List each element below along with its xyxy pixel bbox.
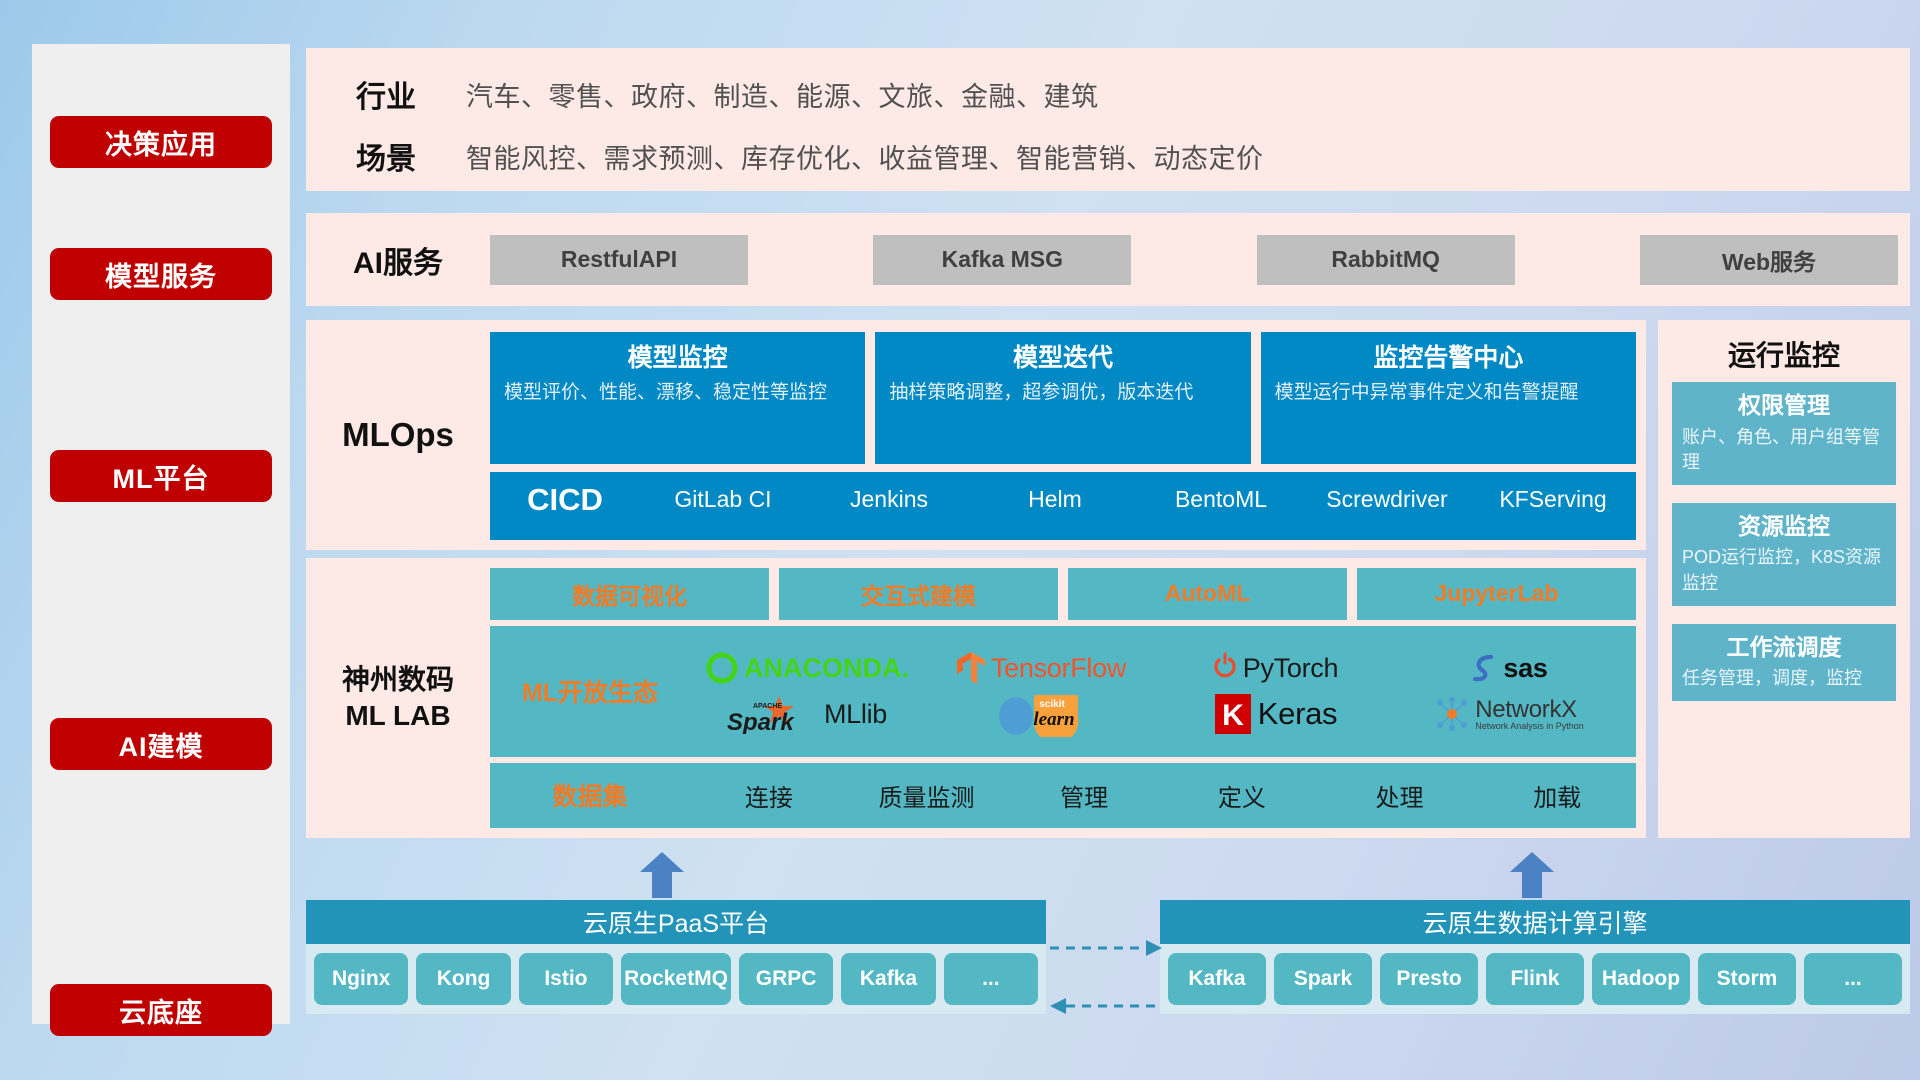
cloud-chip-grpc[interactable]: GRPC: [739, 953, 833, 1005]
cloud-chip-rocketmq[interactable]: RocketMQ: [621, 953, 731, 1005]
ai-service-chip-list: RestfulAPI Kafka MSG RabbitMQ Web服务: [490, 235, 1910, 285]
cicd-item-gitlab-ci[interactable]: GitLab CI: [640, 484, 806, 511]
mlops-label: MLOps: [306, 320, 490, 550]
industry-scenario-band: 行业 汽车、零售、政府、制造、能源、文旅、金融、建筑 场景 智能风控、需求预测、…: [306, 48, 1910, 191]
networkx-logo-text: NetworkX: [1475, 698, 1584, 722]
industry-label: 行业: [306, 72, 466, 116]
ml-open-ecosystem-title: ML开放生态: [490, 673, 690, 709]
up-arrow-engine-icon: [1510, 852, 1554, 898]
ml-lab-tab-interactive-modeling[interactable]: 交互式建模: [779, 568, 1058, 620]
cloud-chip-kong[interactable]: Kong: [416, 953, 510, 1005]
tensorflow-logo: TensorFlow: [956, 651, 1126, 685]
engine-chip-presto[interactable]: Presto: [1380, 953, 1478, 1005]
card-desc: 账户、角色、用户组等管理: [1682, 425, 1886, 475]
scenario-label: 场景: [306, 134, 466, 178]
cloud-engine-header: 云原生数据计算引擎: [1160, 900, 1910, 944]
mlops-content: 模型监控 模型评价、性能、漂移、稳定性等监控 模型迭代 抽样策略调整，超参调优，…: [490, 320, 1646, 550]
scenario-value: 智能风控、需求预测、库存优化、收益管理、智能营销、动态定价: [466, 137, 1264, 176]
ai-service-label: AI服务: [306, 238, 490, 282]
monitor-card-workflow-scheduling[interactable]: 工作流调度 任务管理，调度，监控: [1672, 624, 1896, 702]
layer-chip-cloud-base[interactable]: 云底座: [50, 984, 272, 1036]
engine-chip-more[interactable]: ...: [1804, 953, 1902, 1005]
ml-open-ecosystem-panel: ML开放生态 ANACONDA.: [490, 626, 1636, 757]
mlops-card-model-monitoring[interactable]: 模型监控 模型评价、性能、漂移、稳定性等监控: [490, 332, 865, 464]
cloud-chip-more[interactable]: ...: [944, 953, 1038, 1005]
card-desc: 模型运行中异常事件定义和告警提醒: [1275, 380, 1622, 407]
cloud-paas-header: 云原生PaaS平台: [306, 900, 1046, 944]
mlops-card-alert-center[interactable]: 监控告警中心 模型运行中异常事件定义和告警提醒: [1261, 332, 1636, 464]
ml-lab-tab-list: 数据可视化 交互式建模 AutoML JupyterLab: [490, 568, 1636, 620]
dataset-item-list: 连接 质量监测 管理 定义 处理 加载: [690, 778, 1636, 813]
ml-lab-band: 神州数码 ML LAB 数据可视化 交互式建模 AutoML JupyterLa…: [306, 558, 1646, 838]
ml-lab-content: 数据可视化 交互式建模 AutoML JupyterLab ML开放生态 ANA…: [490, 558, 1646, 838]
card-title: 权限管理: [1682, 388, 1886, 423]
svg-text:learn: learn: [1033, 709, 1074, 730]
engine-chip-flink[interactable]: Flink: [1486, 953, 1584, 1005]
dataset-item-manage[interactable]: 管理: [1005, 778, 1163, 813]
up-arrow-paas-icon: [640, 852, 684, 898]
cicd-item-bentoml[interactable]: BentoML: [1138, 484, 1304, 511]
dataset-item-load[interactable]: 加载: [1478, 778, 1636, 813]
card-title: 监控告警中心: [1275, 340, 1622, 376]
dataset-item-connect[interactable]: 连接: [690, 778, 848, 813]
engine-chip-spark[interactable]: Spark: [1274, 953, 1372, 1005]
card-title: 工作流调度: [1682, 630, 1886, 665]
networkx-logo: NetworkX Network Analysis in Python: [1434, 696, 1584, 732]
industry-value: 汽车、零售、政府、制造、能源、文旅、金融、建筑: [466, 75, 1099, 114]
pytorch-logo: PyTorch: [1212, 652, 1338, 684]
spark-mllib-logo: APACHE Spark MLlib: [727, 694, 887, 734]
industry-row: 行业 汽车、零售、政府、制造、能源、文旅、金融、建筑: [306, 66, 1910, 122]
scikit-learn-logo: scikit learn: [994, 691, 1088, 737]
keras-logo-text: Keras: [1258, 696, 1337, 732]
layer-chip-model-service[interactable]: 模型服务: [50, 248, 272, 300]
cloud-chip-kafka[interactable]: Kafka: [841, 953, 935, 1005]
mlops-band: MLOps 模型监控 模型评价、性能、漂移、稳定性等监控 模型迭代 抽样策略调整…: [306, 320, 1646, 550]
dataset-item-process[interactable]: 处理: [1321, 778, 1479, 813]
card-title: 资源监控: [1682, 509, 1886, 544]
ai-service-chip-kafka-msg[interactable]: Kafka MSG: [873, 235, 1131, 285]
bidirectional-connector: [1048, 930, 1164, 1030]
keras-logo: K Keras: [1213, 693, 1337, 735]
dataset-item-quality-monitoring[interactable]: 质量监测: [848, 778, 1006, 813]
monitor-card-resource-monitoring[interactable]: 资源监控 POD运行监控，K8S资源监控: [1672, 503, 1896, 606]
cicd-item-kfserving[interactable]: KFServing: [1470, 484, 1636, 511]
dataset-panel: 数据集 连接 质量监测 管理 定义 处理 加载: [490, 763, 1636, 828]
cloud-chip-nginx[interactable]: Nginx: [314, 953, 408, 1005]
card-title: 模型迭代: [889, 340, 1236, 376]
cicd-bar: CICD GitLab CI Jenkins Helm BentoML Scre…: [490, 472, 1636, 540]
svg-text:K: K: [1222, 699, 1244, 732]
cloud-engine-chip-list: Kafka Spark Presto Flink Hadoop Storm ..…: [1160, 944, 1910, 1014]
runtime-monitoring-title: 运行监控: [1658, 320, 1910, 382]
cloud-chip-istio[interactable]: Istio: [519, 953, 613, 1005]
anaconda-logo: ANACONDA.: [705, 651, 909, 685]
ai-service-chip-web-service[interactable]: Web服务: [1640, 235, 1898, 285]
pytorch-logo-text: PyTorch: [1243, 653, 1338, 684]
svg-text:Spark: Spark: [727, 709, 795, 734]
sas-logo-text: sas: [1503, 653, 1547, 684]
card-desc: 任务管理，调度，监控: [1682, 666, 1886, 691]
engine-chip-hadoop[interactable]: Hadoop: [1592, 953, 1690, 1005]
cicd-item-helm[interactable]: Helm: [972, 484, 1138, 511]
ml-lab-tab-automl[interactable]: AutoML: [1068, 568, 1347, 620]
ai-service-chip-rabbitmq[interactable]: RabbitMQ: [1257, 235, 1515, 285]
engine-chip-storm[interactable]: Storm: [1698, 953, 1796, 1005]
scenario-row: 场景 智能风控、需求预测、库存优化、收益管理、智能营销、动态定价: [306, 128, 1910, 184]
cicd-item-jenkins[interactable]: Jenkins: [806, 484, 972, 511]
arrow-left-icon: [1050, 998, 1066, 1014]
card-title: 模型监控: [504, 340, 851, 376]
mlops-card-list: 模型监控 模型评价、性能、漂移、稳定性等监控 模型迭代 抽样策略调整，超参调优，…: [490, 332, 1636, 464]
cicd-item-list: GitLab CI Jenkins Helm BentoML Screwdriv…: [640, 484, 1636, 511]
engine-chip-kafka[interactable]: Kafka: [1168, 953, 1266, 1005]
card-desc: 模型评价、性能、漂移、稳定性等监控: [504, 380, 851, 407]
ai-service-chip-restfulapi[interactable]: RestfulAPI: [490, 235, 748, 285]
layer-chip-ai-modeling[interactable]: AI建模: [50, 718, 272, 770]
ml-lab-label: 神州数码 ML LAB: [306, 558, 490, 838]
ecosystem-logo-grid: ANACONDA. TensorFlow: [690, 645, 1636, 737]
cicd-item-screwdriver[interactable]: Screwdriver: [1304, 484, 1470, 511]
mlops-card-model-iteration[interactable]: 模型迭代 抽样策略调整，超参调优，版本迭代: [875, 332, 1250, 464]
dataset-title: 数据集: [490, 777, 690, 813]
cloud-paas-chip-list: Nginx Kong Istio RocketMQ GRPC Kafka ...: [306, 944, 1046, 1014]
dataset-item-define[interactable]: 定义: [1163, 778, 1321, 813]
runtime-monitoring-panel: 运行监控 权限管理 账户、角色、用户组等管理 资源监控 POD运行监控，K8S资…: [1658, 320, 1910, 838]
arrow-right-icon: [1146, 940, 1162, 956]
ml-lab-tab-data-visualization[interactable]: 数据可视化: [490, 568, 769, 620]
ai-service-band: AI服务 RestfulAPI Kafka MSG RabbitMQ Web服务: [306, 213, 1910, 306]
layer-chip-decision[interactable]: 决策应用: [50, 116, 272, 168]
sas-logo: sas: [1470, 652, 1547, 684]
ml-lab-tab-jupyterlab[interactable]: JupyterLab: [1357, 568, 1636, 620]
spark-mllib-logo-text: MLlib: [824, 699, 887, 730]
monitor-card-permission-management[interactable]: 权限管理 账户、角色、用户组等管理: [1672, 382, 1896, 485]
anaconda-logo-text: ANACONDA.: [744, 653, 909, 684]
tensorflow-logo-text: TensorFlow: [991, 653, 1126, 684]
layer-chip-ml-platform[interactable]: ML平台: [50, 450, 272, 502]
card-desc: 抽样策略调整，超参调优，版本迭代: [889, 380, 1236, 407]
layer-rail: 决策应用 模型服务 ML平台 AI建模 云底座: [32, 44, 290, 1024]
card-desc: POD运行监控，K8S资源监控: [1682, 545, 1886, 595]
cicd-title: CICD: [490, 484, 640, 515]
cloud-native-paas-panel: 云原生PaaS平台 Nginx Kong Istio RocketMQ GRPC…: [306, 900, 1046, 1014]
cloud-native-data-engine-panel: 云原生数据计算引擎 Kafka Spark Presto Flink Hadoo…: [1160, 900, 1910, 1014]
